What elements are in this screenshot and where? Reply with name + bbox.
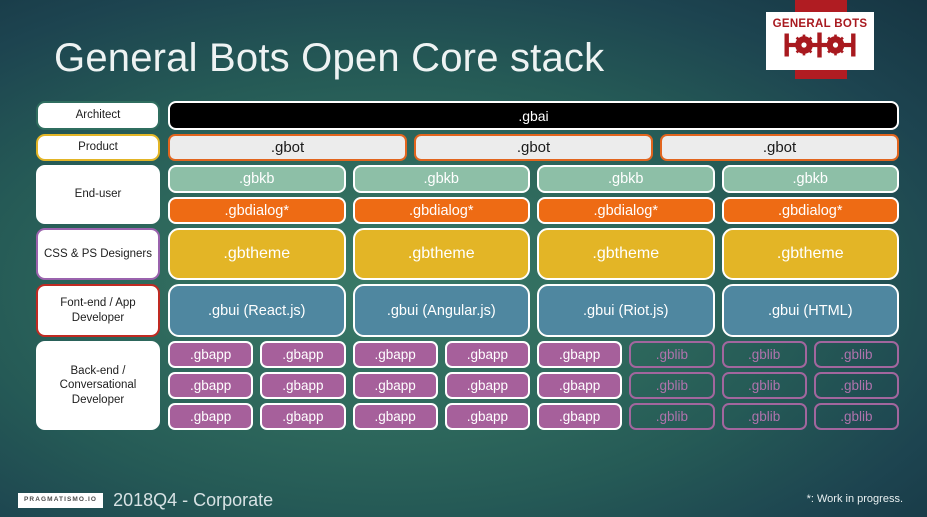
tile-gbdialog[interactable]: .gbdialog* [168, 197, 346, 224]
tile-gblib[interactable]: .gblib [814, 341, 899, 368]
tile-gbkb[interactable]: .gbkb [168, 165, 346, 193]
tile-gbot[interactable]: .gbot [660, 134, 899, 161]
tile-gbapp[interactable]: .gbapp [168, 341, 253, 368]
tile-gblib[interactable]: .gblib [814, 372, 899, 399]
tile-gbapp[interactable]: .gbapp [168, 403, 253, 430]
brand-name: GENERAL BOTS [773, 19, 868, 31]
tile-gbapp[interactable]: .gbapp [445, 403, 530, 430]
tile-gblib[interactable]: .gblib [629, 372, 714, 399]
role-label-frontend-developer: Font-end / App Developer [36, 284, 160, 337]
role-label-architect: Architect [36, 101, 160, 130]
band-gbkb: .gbkb .gbkb .gbkb .gbkb [168, 165, 899, 193]
role-cell-frontend-developer: Font-end / App Developer [36, 284, 160, 337]
tile-gbapp[interactable]: .gbapp [353, 341, 438, 368]
band-backend-row: .gbapp.gbapp.gbapp.gbapp.gbapp.gblib.gbl… [168, 372, 899, 399]
role-label-end-user: End-user [36, 165, 160, 224]
band-backend-row: .gbapp.gbapp.gbapp.gbapp.gbapp.gblib.gbl… [168, 341, 899, 368]
tile-gbapp[interactable]: .gbapp [260, 372, 345, 399]
role-cell-architect: Architect [36, 101, 160, 130]
page-title: General Bots Open Core stack [54, 36, 604, 81]
tile-gbai[interactable]: .gbai [168, 101, 899, 130]
tile-gbapp[interactable]: .gbapp [445, 372, 530, 399]
row-body-designers: .gbtheme .gbtheme .gbtheme .gbtheme [168, 228, 899, 280]
tile-gbtheme[interactable]: .gbtheme [722, 228, 900, 280]
tile-gblib[interactable]: .gblib [722, 341, 807, 368]
role-cell-backend-developer: Back-end / Conversational Developer [36, 341, 160, 430]
tile-gblib[interactable]: .gblib [722, 372, 807, 399]
tile-gbapp[interactable]: .gbapp [353, 403, 438, 430]
tile-gbapp[interactable]: .gbapp [537, 341, 622, 368]
pragmatismo-logo: PRAGMATISMO.IO [18, 493, 103, 508]
tile-gbdialog[interactable]: .gbdialog* [537, 197, 715, 224]
gears-between-bars-icon [783, 32, 857, 63]
band-gbui: .gbui (React.js) .gbui (Angular.js) .gbu… [168, 284, 899, 337]
band-gbai: .gbai [168, 101, 899, 130]
tile-gbapp[interactable]: .gbapp [260, 403, 345, 430]
band-gbdialog: .gbdialog* .gbdialog* .gbdialog* .gbdial… [168, 197, 899, 224]
stack-row-designers: CSS & PS Designers .gbtheme .gbtheme .gb… [36, 228, 899, 280]
tile-gbtheme[interactable]: .gbtheme [537, 228, 715, 280]
tile-gbkb[interactable]: .gbkb [537, 165, 715, 193]
band-gbtheme: .gbtheme .gbtheme .gbtheme .gbtheme [168, 228, 899, 280]
footnote-work-in-progress: *: Work in progress. [807, 493, 903, 505]
tile-gbapp[interactable]: .gbapp [260, 341, 345, 368]
stack-diagram: Architect .gbai Product .gbot .gbot .gbo… [36, 101, 899, 430]
tile-gbkb[interactable]: .gbkb [353, 165, 531, 193]
row-body-end-user: .gbkb .gbkb .gbkb .gbkb .gbdialog* .gbdi… [168, 165, 899, 224]
tile-gbapp[interactable]: .gbapp [537, 403, 622, 430]
tile-gbapp[interactable]: .gbapp [445, 341, 530, 368]
slide-canvas: GENERAL BOTS [0, 0, 927, 517]
row-body-product: .gbot .gbot .gbot [168, 134, 899, 161]
tile-gbtheme[interactable]: .gbtheme [168, 228, 346, 280]
row-body-backend-developer: .gbapp.gbapp.gbapp.gbapp.gbapp.gblib.gbl… [168, 341, 899, 430]
tile-gbui[interactable]: .gbui (Riot.js) [537, 284, 715, 337]
tile-gblib[interactable]: .gblib [629, 403, 714, 430]
tile-gbkb[interactable]: .gbkb [722, 165, 900, 193]
footer-caption: 2018Q4 - Corporate [113, 490, 273, 511]
tile-gblib[interactable]: .gblib [722, 403, 807, 430]
tile-gbot[interactable]: .gbot [414, 134, 653, 161]
tile-gbdialog[interactable]: .gbdialog* [722, 197, 900, 224]
tile-gbot[interactable]: .gbot [168, 134, 407, 161]
role-cell-product: Product [36, 134, 160, 161]
role-label-backend-developer: Back-end / Conversational Developer [36, 341, 160, 430]
stack-row-product: Product .gbot .gbot .gbot [36, 134, 899, 161]
role-label-product: Product [36, 134, 160, 161]
band-gbot: .gbot .gbot .gbot [168, 134, 899, 161]
role-cell-designers: CSS & PS Designers [36, 228, 160, 280]
row-body-architect: .gbai [168, 101, 899, 130]
stack-row-end-user: End-user .gbkb .gbkb .gbkb .gbkb .gbdial… [36, 165, 899, 224]
tile-gbui[interactable]: .gbui (React.js) [168, 284, 346, 337]
tile-gblib[interactable]: .gblib [629, 341, 714, 368]
stack-row-architect: Architect .gbai [36, 101, 899, 130]
tile-gbapp[interactable]: .gbapp [537, 372, 622, 399]
row-body-frontend-developer: .gbui (React.js) .gbui (Angular.js) .gbu… [168, 284, 899, 337]
stack-row-backend-developer: Back-end / Conversational Developer .gba… [36, 341, 899, 430]
band-backend-row: .gbapp.gbapp.gbapp.gbapp.gbapp.gblib.gbl… [168, 403, 899, 430]
tile-gblib[interactable]: .gblib [814, 403, 899, 430]
footer-left: PRAGMATISMO.IO 2018Q4 - Corporate [18, 490, 273, 511]
tile-gbui[interactable]: .gbui (HTML) [722, 284, 900, 337]
tile-gbui[interactable]: .gbui (Angular.js) [353, 284, 531, 337]
tile-gbapp[interactable]: .gbapp [168, 372, 253, 399]
role-cell-end-user: End-user [36, 165, 160, 224]
tile-gbdialog[interactable]: .gbdialog* [353, 197, 531, 224]
brand-logo: GENERAL BOTS [766, 12, 874, 70]
stack-row-frontend-developer: Font-end / App Developer .gbui (React.js… [36, 284, 899, 337]
tile-gbtheme[interactable]: .gbtheme [353, 228, 531, 280]
role-label-designers: CSS & PS Designers [36, 228, 160, 280]
tile-gbapp[interactable]: .gbapp [353, 372, 438, 399]
